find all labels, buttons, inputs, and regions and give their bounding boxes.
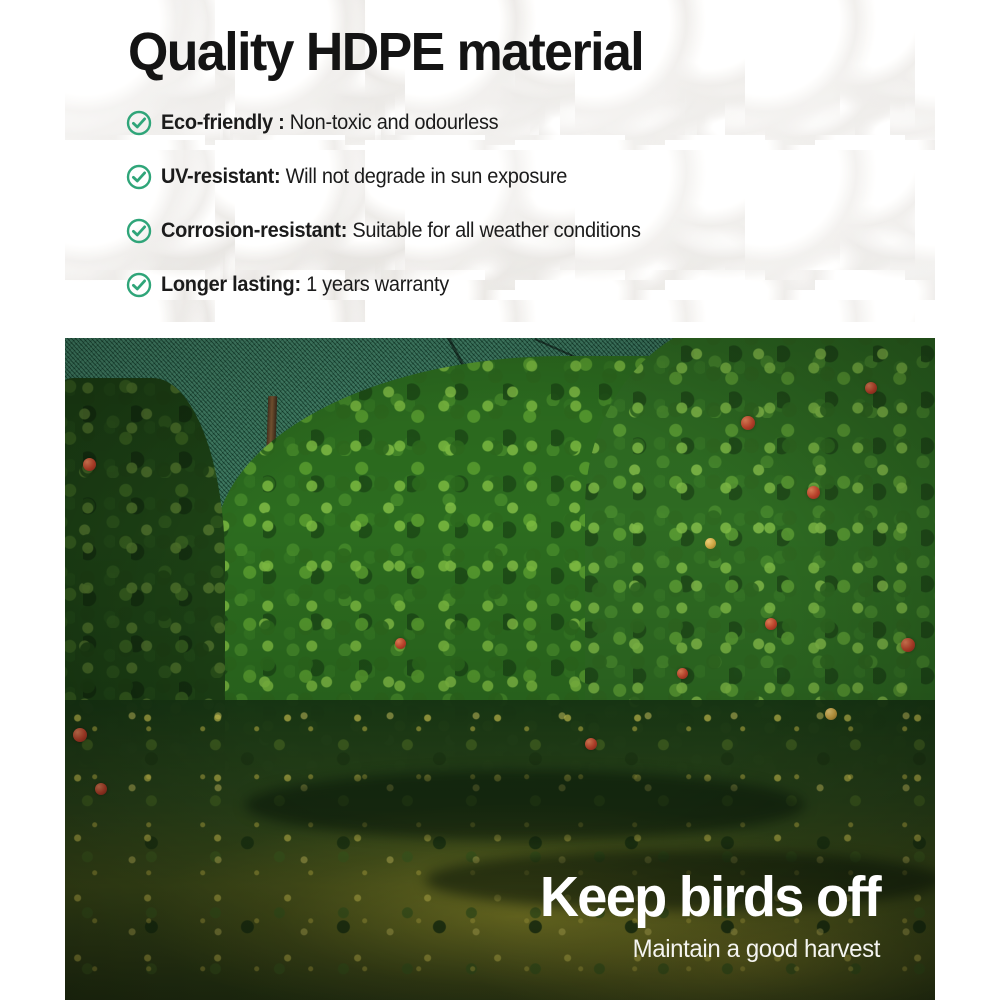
check-circle-icon (126, 164, 152, 190)
check-circle-icon (126, 110, 152, 136)
feature-text: Eco-friendly : Non-toxic and odourless (161, 111, 498, 135)
feature-label: Longer lasting: (161, 273, 301, 296)
feature-label: UV-resistant: (161, 165, 280, 188)
feature-text: Corrosion-resistant: Suitable for all we… (161, 219, 641, 243)
feature-label: Eco-friendly : (161, 111, 284, 134)
feature-text: UV-resistant: Will not degrade in sun ex… (161, 165, 567, 189)
overlay-headline: Keep birds off (540, 869, 880, 926)
feature-description: 1 years warranty (301, 273, 449, 296)
feature-description: Non-toxic and odourless (284, 111, 498, 134)
orchard-photo-panel: Keep birds off Maintain a good harvest (65, 338, 935, 1000)
overlay-caption: Keep birds off Maintain a good harvest (522, 869, 880, 964)
feature-item-uv-resistant: UV-resistant: Will not degrade in sun ex… (126, 150, 946, 204)
feature-item-corrosion-resistant: Corrosion-resistant: Suitable for all we… (126, 204, 946, 258)
feature-list: Eco-friendly : Non-toxic and odourless U… (126, 96, 946, 312)
check-circle-icon (126, 272, 152, 298)
check-circle-icon (126, 218, 152, 244)
feature-item-eco-friendly: Eco-friendly : Non-toxic and odourless (126, 96, 946, 150)
feature-label: Corrosion-resistant: (161, 219, 347, 242)
top-panel-content: Quality HDPE material Eco-friendly : Non… (0, 0, 1000, 322)
feature-description: Suitable for all weather conditions (347, 219, 641, 242)
feature-item-longer-lasting: Longer lasting: 1 years warranty (126, 258, 946, 312)
product-feature-banner: Quality HDPE material Eco-friendly : Non… (0, 0, 1000, 1000)
page-title: Quality HDPE material (128, 24, 643, 81)
feature-text: Longer lasting: 1 years warranty (161, 273, 449, 297)
feature-description: Will not degrade in sun exposure (280, 165, 567, 188)
overlay-subheadline: Maintain a good harvest (536, 935, 880, 964)
